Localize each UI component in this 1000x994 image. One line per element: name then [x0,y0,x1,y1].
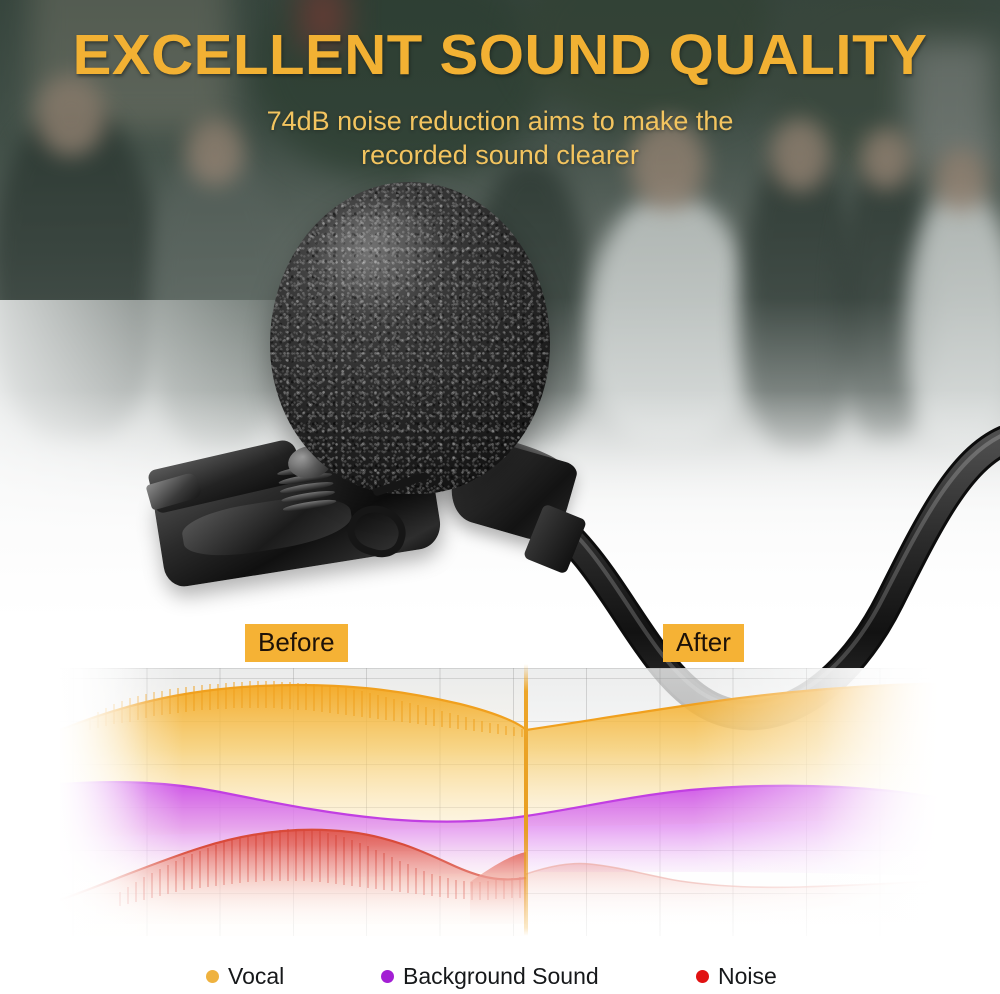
legend-label-vocal: Vocal [228,962,284,990]
page-title: EXCELLENT SOUND QUALITY [0,26,1000,86]
legend-dot-background-sound-icon [381,970,394,983]
legend-dot-vocal-icon [206,970,219,983]
before-after-divider-line [524,664,528,936]
chart-grid-fade [60,668,940,936]
subtitle-line-2: recorded sound clearer [0,138,1000,172]
legend-item-noise: Noise [696,962,777,990]
after-label-badge: After [663,624,744,662]
chart-legend: Vocal Background Sound Noise [0,962,1000,994]
subtitle-line-1: 74dB noise reduction aims to make the [267,106,734,136]
lavalier-microphone [140,180,660,600]
legend-label-background-sound: Background Sound [403,962,599,990]
legend-dot-noise-icon [696,970,709,983]
legend-item-vocal: Vocal [206,962,284,990]
legend-item-background-sound: Background Sound [381,962,599,990]
product-feature-poster: EXCELLENT SOUND QUALITY 74dB noise reduc… [0,0,1000,994]
foam-highlight [320,207,449,313]
legend-label-noise: Noise [718,962,777,990]
page-subtitle: 74dB noise reduction aims to make the re… [0,104,1000,172]
foam-windscreen [270,182,550,494]
waveform-comparison-chart [60,668,940,936]
before-label-badge: Before [245,624,348,662]
